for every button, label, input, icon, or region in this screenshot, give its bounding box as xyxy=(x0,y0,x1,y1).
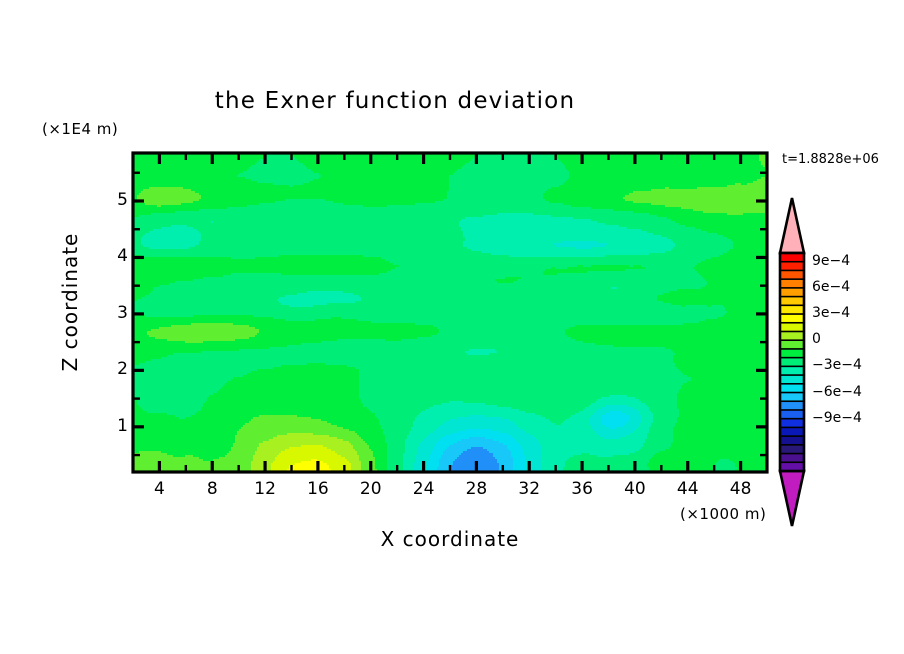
contour-plot xyxy=(0,0,904,654)
colorbar xyxy=(780,198,804,526)
contour-field xyxy=(133,153,767,474)
figure-canvas: the Exner function deviation (×1E4 m) t=… xyxy=(0,0,904,654)
